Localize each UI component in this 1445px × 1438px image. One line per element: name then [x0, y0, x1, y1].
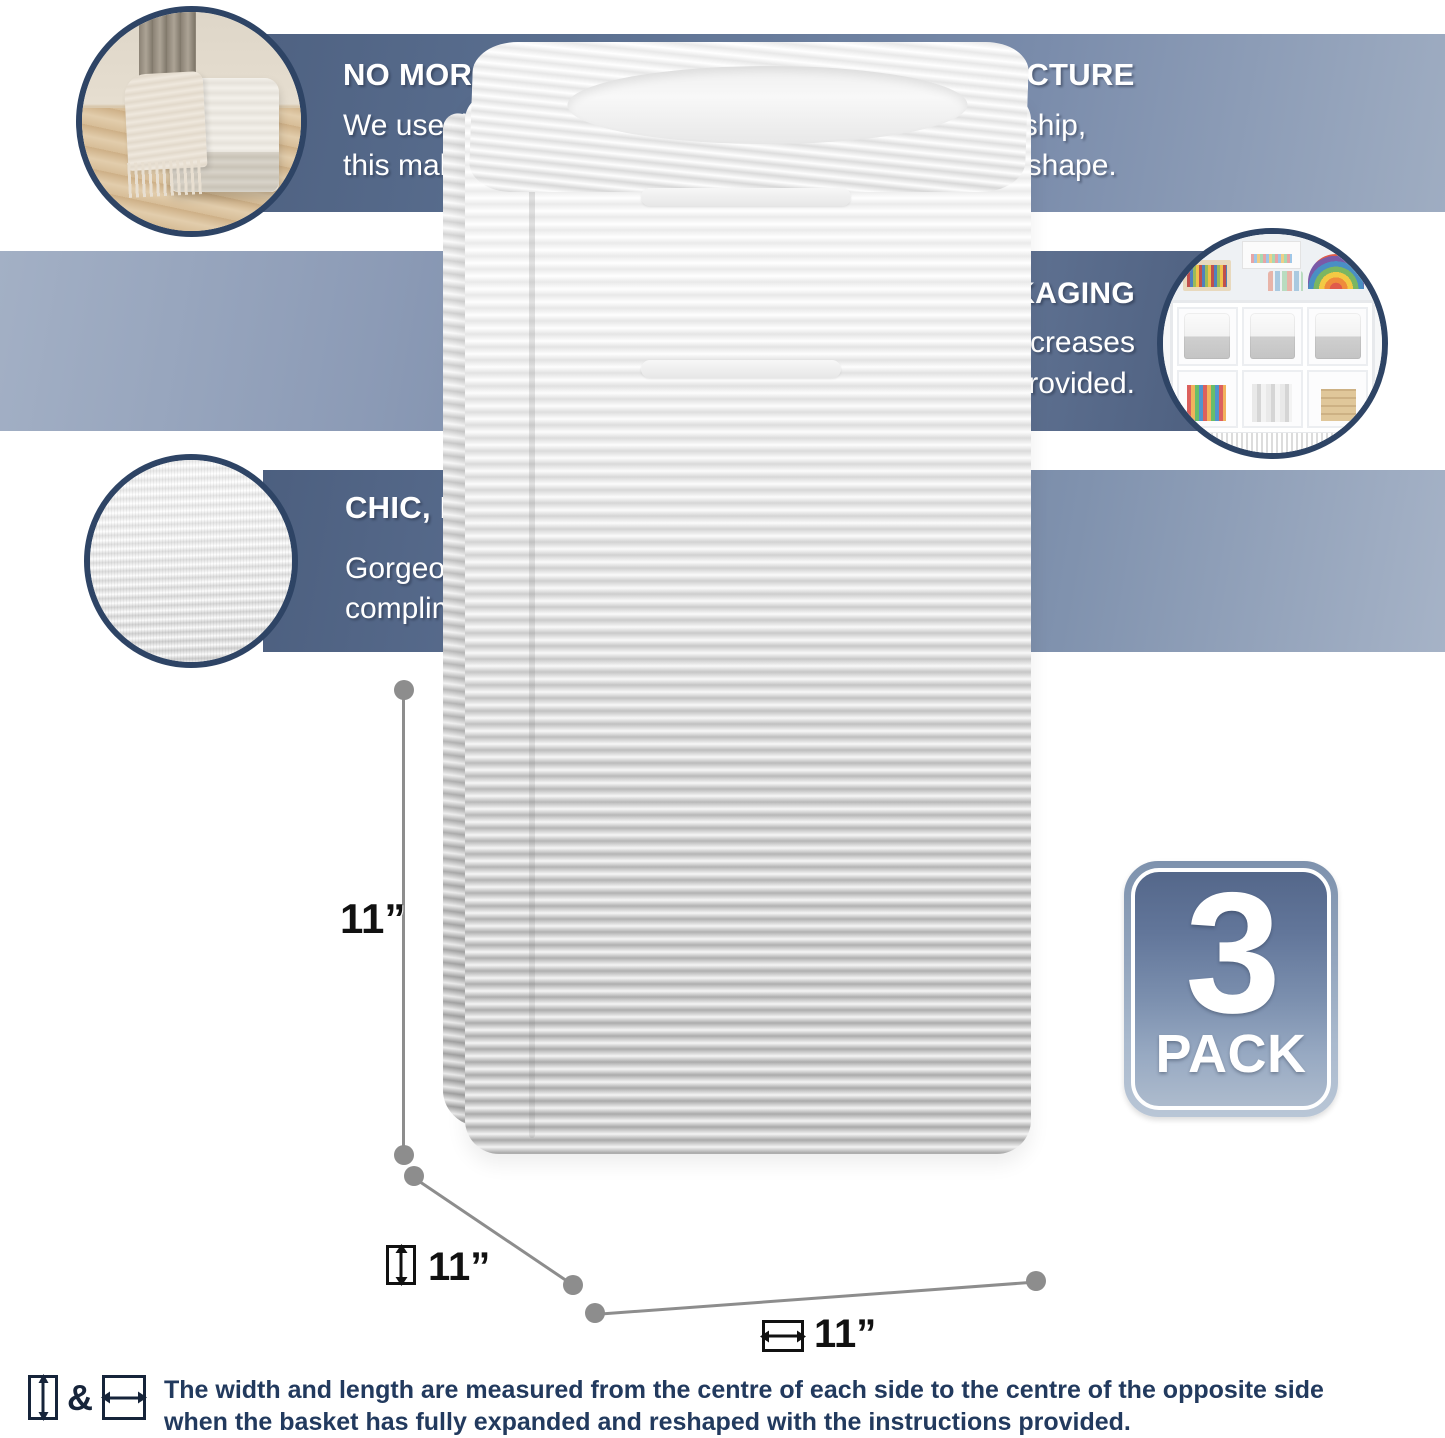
photo-1-scene	[82, 12, 301, 231]
vertical-double-arrow-icon	[28, 1375, 58, 1420]
footnote-line-1: The width and length are measured from t…	[164, 1374, 1324, 1406]
horizontal-arrow-shaft	[110, 1396, 139, 1399]
basket-top-rim	[468, 42, 1029, 192]
measurement-footnote: & The width and length are measured from…	[28, 1374, 1428, 1426]
vertical-arrow-shaft	[400, 1253, 403, 1277]
height-dimension-dot-top	[394, 680, 414, 700]
photo-2-peg-dolls	[1268, 271, 1303, 291]
photo-2-cell	[1242, 307, 1303, 366]
photo-2-cell	[1307, 370, 1368, 429]
depth-dimension-dot-top	[404, 1166, 424, 1186]
ombre-rope-storage-cube-basket	[443, 42, 1033, 1122]
photo-2-storage-bin	[1184, 313, 1230, 359]
photo-2-striped-rug	[1163, 433, 1382, 453]
photo-3-rope-coils	[90, 460, 292, 662]
pack-quantity-badge: 3 PACK	[1124, 861, 1338, 1117]
footnote-text: The width and length are measured from t…	[164, 1374, 1324, 1438]
vertical-arrow-shaft	[42, 1383, 45, 1411]
width-dimension-label: 11”	[814, 1312, 876, 1357]
pack-badge-word: PACK	[1155, 1023, 1306, 1085]
footnote-icon-group: &	[28, 1375, 146, 1420]
footnote-line-2: when the basket has fully expanded and r…	[164, 1406, 1324, 1438]
photo-2-books	[1252, 384, 1292, 422]
photo-2-wooden-toy	[1187, 385, 1226, 421]
photo-2-cell	[1242, 370, 1303, 429]
basket-handle-right	[641, 360, 841, 378]
basket-corner-edge	[529, 138, 535, 1138]
photo-2-wooden-blocks	[1321, 389, 1357, 421]
pack-badge-number: 3	[1185, 883, 1277, 1024]
photo-2-storage-bin	[1315, 313, 1361, 359]
playroom-cube-shelf-photo	[1157, 228, 1388, 459]
basket-front-face	[465, 94, 1031, 1154]
photo-2-cell	[1177, 307, 1238, 366]
horizontal-double-arrow-icon	[762, 1320, 804, 1352]
photo-1-throw-blanket	[123, 71, 207, 171]
photo-2-cell	[1307, 307, 1368, 366]
depth-dimension-label: 11”	[428, 1245, 490, 1290]
horizontal-double-arrow-icon	[102, 1375, 146, 1420]
vertical-double-arrow-icon	[386, 1245, 416, 1285]
horizontal-arrow-shaft	[769, 1335, 796, 1338]
width-dimension-line	[594, 1280, 1038, 1316]
width-dimension-dot-right	[1026, 1271, 1046, 1291]
photo-2-abacus-toy	[1183, 260, 1231, 291]
photo-1-blanket-fringe	[127, 159, 203, 198]
height-dimension-dot-bottom	[394, 1145, 414, 1165]
basket-opening	[566, 66, 969, 144]
pack-badge-inner: 3 PACK	[1131, 868, 1331, 1110]
photo-2-play-sign	[1242, 241, 1301, 269]
basket-handle-left	[641, 188, 851, 206]
rope-texture-closeup-photo	[84, 454, 298, 668]
photo-2-cube-shelf	[1170, 300, 1376, 436]
photo-2-storage-bin	[1250, 313, 1296, 359]
height-dimension-label: 11”	[340, 895, 405, 943]
width-dimension-dot-left	[585, 1303, 605, 1323]
basket-with-throw-blanket-photo	[76, 6, 307, 237]
photo-2-cell	[1177, 370, 1238, 429]
photo-2-scene	[1163, 234, 1382, 453]
photo-3-weave-grain	[90, 460, 292, 662]
depth-dimension-dot-bottom	[563, 1275, 583, 1295]
footnote-ampersand: &	[67, 1380, 93, 1416]
